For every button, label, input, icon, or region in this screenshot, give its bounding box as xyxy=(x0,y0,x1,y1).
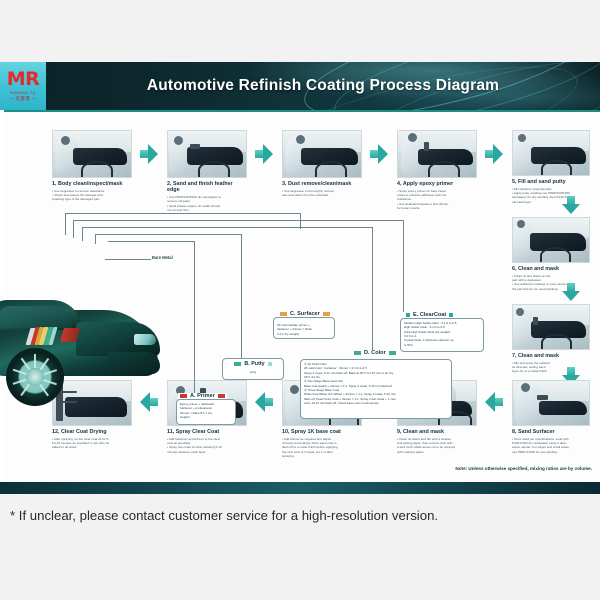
putty-color-chip xyxy=(234,362,241,366)
layer-label-text: A. Primer xyxy=(190,393,215,399)
arrow-3-to-4 xyxy=(370,144,388,164)
step-3-body: • Use degreaser to thoroughly remove wax… xyxy=(282,189,360,198)
poster-image: MR MINGHUI TU — 论客客 — Automotive Refinis… xyxy=(0,62,600,494)
arrow-4-to-5 xyxy=(485,144,503,164)
layer-callout-surfacer: 2K intermediate primer + hardener + thin… xyxy=(273,317,335,339)
spray-gun-icon xyxy=(424,142,429,151)
step-10-title: 10, Spray 1K base coat xyxy=(282,429,360,435)
step-5-title: 5, Fill and sand putty xyxy=(512,179,588,185)
wheel-hub xyxy=(26,368,44,386)
putty-color-chip xyxy=(268,362,272,366)
leader-line xyxy=(372,227,373,352)
poster-header-banner: MR MINGHUI TU — 论客客 — Automotive Refinis… xyxy=(0,62,600,110)
layer-label-primer: A. Primer xyxy=(178,393,227,399)
worker-head-icon xyxy=(521,383,530,392)
worker-head-icon xyxy=(61,136,70,145)
leader-line xyxy=(95,234,241,235)
worker-head-icon xyxy=(517,220,525,228)
poster-title: Automotive Refinish Coating Process Diag… xyxy=(46,62,600,110)
step-2-title: 2, Sand and finish feather edge xyxy=(167,181,245,193)
leader-line xyxy=(73,220,403,221)
arrow-head xyxy=(255,392,265,412)
step-11-body: • Add hardener and thinner to the clear … xyxy=(167,437,245,455)
step-card-3: 3, Dust remove/clean/mask • Use degrease… xyxy=(282,130,360,197)
step-5-photo xyxy=(512,130,590,176)
arrow-head xyxy=(493,144,503,164)
arrow-head xyxy=(562,204,580,214)
step-8-title: 8, Sand Surfacer xyxy=(512,429,588,435)
layer-label-color: D. Color xyxy=(352,350,398,356)
leader-line xyxy=(73,220,74,238)
arrow-1-to-2 xyxy=(140,144,158,164)
step-2-photo xyxy=(167,130,247,178)
step-8-body: • Once dried per specifications, sand wi… xyxy=(512,437,588,455)
arrow-shaft xyxy=(264,398,273,406)
wheel-arch-icon xyxy=(540,247,571,263)
screenshot-root: MR MINGHUI TU — 论客客 — Automotive Refinis… xyxy=(0,0,600,600)
layer-label-clearcoat: E. ClearCoat xyxy=(404,312,455,318)
wheel-arch-icon xyxy=(81,161,113,178)
step-card-1: 1, Body clean/inspect/mask • Use degreas… xyxy=(52,130,130,202)
leader-line xyxy=(108,241,194,242)
car-window xyxy=(0,306,72,328)
arrow-8-to-9 xyxy=(485,392,505,412)
sander-tool-icon xyxy=(537,395,548,400)
step-6-title: 6, Clean and mask xyxy=(512,266,588,272)
worker-figure-icon xyxy=(513,309,533,349)
arrow-head xyxy=(378,144,388,164)
layer-callout-color-body: ① 1K Solid Color 2K solid color : harden… xyxy=(304,362,448,405)
layer-callout-putty: B. Putty putty xyxy=(222,358,284,380)
leader-line xyxy=(403,220,404,312)
layer-label-text: B. Putty xyxy=(244,361,264,367)
step-card-2: 2, Sand and finish feather edge • Use P8… xyxy=(167,130,245,212)
step-card-6: 6, Clean and mask • Clean oil and stains… xyxy=(512,217,588,291)
step-11-title: 11, Spray Clear Coat xyxy=(167,429,245,435)
car-cutaway-illustration xyxy=(0,300,168,418)
step-7-photo xyxy=(512,304,590,350)
worker-head-icon xyxy=(516,308,524,316)
color-chip xyxy=(354,351,361,355)
poster-left-edge xyxy=(0,110,4,482)
sander-tool-icon xyxy=(190,144,200,149)
bare-metal-label: Bare Metal xyxy=(152,255,173,260)
step-3-title: 3, Dust remove/clean/mask xyxy=(282,181,360,187)
step-9-body: • Clean oil stains and dirt with a clean… xyxy=(397,437,475,455)
worker-head-icon xyxy=(408,133,417,142)
step-card-8: 8, Sand Surfacer • Once dried per specif… xyxy=(512,380,588,454)
step-4-body: • Spray epoxy primer on bare metal areas… xyxy=(397,189,475,211)
car-bumper xyxy=(108,352,160,374)
leader-line xyxy=(65,213,66,235)
leader-line xyxy=(82,227,83,241)
step-12-body: • After spraying, let the clear coat sit… xyxy=(52,437,130,450)
logo-cjk-text: — 论客客 — xyxy=(9,96,37,102)
step-10-body: • Add thinner as required and adjust vis… xyxy=(282,437,360,459)
arrow-head xyxy=(562,291,580,301)
worker-head-icon xyxy=(518,134,526,142)
step-4-photo xyxy=(397,130,477,178)
primer-color-chip xyxy=(180,394,187,398)
primer-color-chip xyxy=(218,394,225,398)
color-chip xyxy=(389,351,396,355)
step-1-body: • Use degreaser to remove wax/stains. • … xyxy=(52,189,130,202)
arrow-head xyxy=(485,392,495,412)
layer-label-surfacer: C. Surfacer xyxy=(278,311,332,317)
leader-line xyxy=(65,213,300,214)
layer-label-text: D. Color xyxy=(364,350,386,356)
layer-callout-color: ① 1K Solid Color 2K solid color : harden… xyxy=(300,359,452,419)
layer-label-text: E. ClearCoat xyxy=(413,312,446,318)
arrow-2-to-3 xyxy=(255,144,273,164)
layer-callout-clearcoat-body: Medium-High Solids Clear : 2:1:0.4~0.5 H… xyxy=(404,321,480,347)
surfacer-color-chip xyxy=(280,312,287,316)
mixing-ratio-note: Note: Unless otherwise specified, mixing… xyxy=(455,466,592,471)
brand-logo: MR MINGHUI TU — 论客客 — xyxy=(0,62,46,110)
step-card-7: 7, Clean and mask • Mix and spray the su… xyxy=(512,304,588,374)
arrow-shaft xyxy=(494,398,503,406)
step-1-photo xyxy=(52,130,132,178)
leader-line xyxy=(95,234,96,244)
layer-callout-clearcoat: Medium-High Solids Clear : 2:1:0.4~0.5 H… xyxy=(400,318,484,352)
leader-line xyxy=(241,234,242,367)
wheel-arch-icon xyxy=(315,161,347,178)
leader-line xyxy=(194,241,195,401)
banner-underline xyxy=(0,110,600,112)
arrow-6-to-7 xyxy=(562,283,582,301)
car-headlight xyxy=(134,334,156,345)
step-6-photo xyxy=(512,217,590,263)
step-4-title: 4, Apply epoxy primer xyxy=(397,181,475,187)
wheel-arch-icon xyxy=(198,161,230,178)
step-3-photo xyxy=(282,130,362,178)
step-8-photo xyxy=(512,380,590,426)
caption-text: * If unclear, please contact customer se… xyxy=(10,508,438,523)
wheel-arch-icon xyxy=(541,334,572,350)
spray-gun-icon xyxy=(533,317,538,325)
arrow-5-to-6 xyxy=(562,196,582,214)
leader-line xyxy=(82,227,372,228)
step-card-4: 4, Apply epoxy primer • Spray epoxy prim… xyxy=(397,130,475,211)
layer-callout-primer: Epoxy primer + dedicated hardener + prof… xyxy=(176,399,236,425)
layer-callout-putty-body: putty xyxy=(226,370,280,374)
car-panel-icon xyxy=(539,401,587,415)
surfacer-color-chip xyxy=(323,312,330,316)
poster-bottom-bar xyxy=(0,482,600,494)
step-9-title: 9, Clean and mask xyxy=(397,429,475,435)
leader-line xyxy=(105,259,151,260)
step-2-body: • Use P80/P120/P180 dry sandpaper to rem… xyxy=(167,195,245,213)
worker-head-icon xyxy=(290,385,299,394)
arrow-10-to-11 xyxy=(255,392,275,412)
wheel-arch-icon xyxy=(541,160,572,176)
arrow-head xyxy=(263,144,273,164)
step-12-title: 12, Clear Coat Drying xyxy=(52,429,130,435)
arrow-head xyxy=(148,144,158,164)
layer-callout-primer-body: Epoxy primer + dedicated hardener + prof… xyxy=(180,402,232,419)
caption-area: * If unclear, please contact customer se… xyxy=(0,494,600,600)
clearcoat-color-chip xyxy=(406,313,410,317)
layer-label-text: C. Surfacer xyxy=(290,311,320,317)
step-card-5: 5, Fill and sand putty • Mix hardener pr… xyxy=(512,130,588,204)
logo-wordmark: MR xyxy=(7,70,40,89)
clearcoat-color-chip xyxy=(449,313,453,317)
step-1-title: 1, Body clean/inspect/mask xyxy=(52,181,130,187)
layer-label-putty: B. Putty xyxy=(226,361,280,367)
worker-head-icon xyxy=(174,136,183,145)
worker-head-icon xyxy=(296,135,305,144)
top-background-strip xyxy=(0,0,600,62)
layer-callout-surfacer-body: 2K intermediate primer + hardener + thin… xyxy=(277,323,331,336)
step-7-title: 7, Clean and mask xyxy=(512,353,588,359)
logo-latin-text: MINGHUI TU xyxy=(10,91,35,95)
wheel-arch-icon xyxy=(428,161,460,178)
